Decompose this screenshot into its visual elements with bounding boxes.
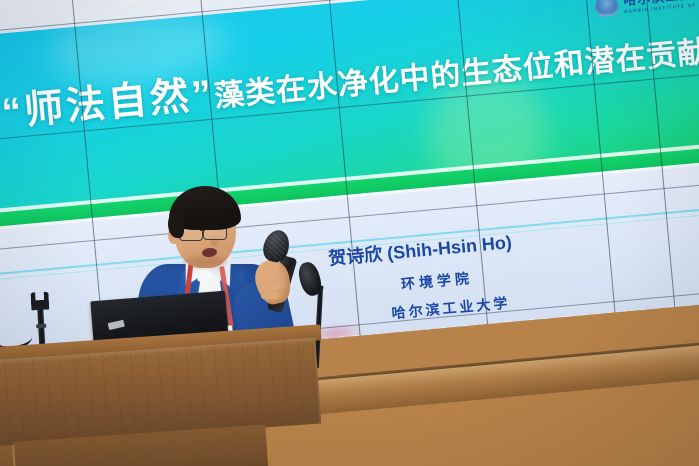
- microphone-stand-band: [36, 324, 46, 329]
- chin-shadow: [184, 256, 226, 268]
- finger: [261, 291, 279, 299]
- hit-logo-text: 哈尔滨工业大学 HARBIN INSTITUTE OF TECHNOLOGY: [623, 0, 699, 14]
- hair-sideburn: [168, 212, 184, 238]
- screenshot-root: ater Resources “师法自然”藻类在水净化中的生态位和潜在贡献 贺诗…: [0, 0, 699, 466]
- wooden-lectern: [0, 324, 331, 466]
- hit-shield-icon: [594, 0, 620, 18]
